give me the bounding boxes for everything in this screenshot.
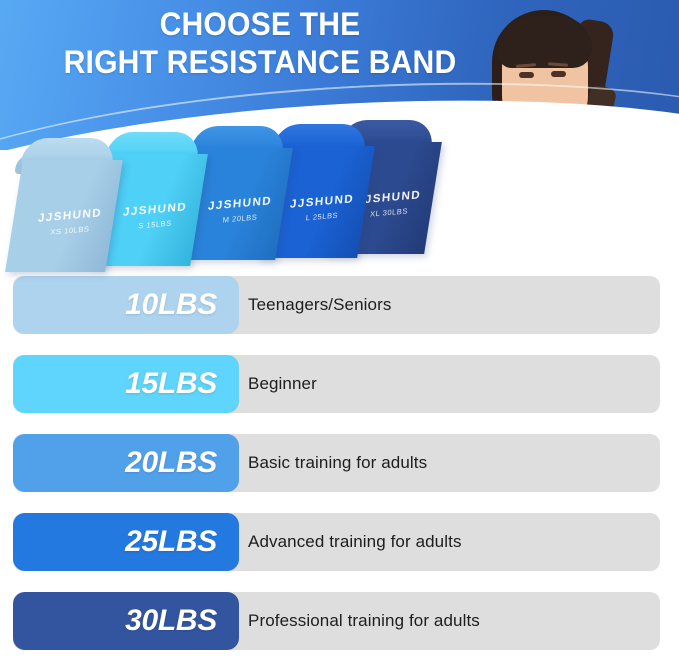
band-lineup: JJSHUND XS 10LBS JJSHUND S 15LBS JJSHUND… <box>0 118 440 268</box>
model-hair-top <box>498 16 592 68</box>
row-description: Professional training for adults <box>248 592 480 650</box>
infographic-page: CHOOSE THE RIGHT RESISTANCE BAND JJSHUND… <box>0 0 679 668</box>
row-description: Basic training for adults <box>248 434 427 492</box>
row-description: Advanced training for adults <box>248 513 462 571</box>
weight-value: 30LBS <box>125 604 217 638</box>
row-description: Beginner <box>248 355 317 413</box>
weight-badge: 15LBS <box>13 355 239 413</box>
table-row: 25LBS Advanced training for adults <box>13 513 660 571</box>
row-description: Teenagers/Seniors <box>248 276 391 334</box>
weight-badge: 25LBS <box>13 513 239 571</box>
weight-value: 10LBS <box>125 288 217 322</box>
weight-value: 15LBS <box>125 367 217 401</box>
weight-badge: 30LBS <box>13 592 239 650</box>
table-row: 20LBS Basic training for adults <box>13 434 660 492</box>
page-title: CHOOSE THE RIGHT RESISTANCE BAND <box>16 6 505 82</box>
page-title-line-1: CHOOSE THE <box>16 6 505 44</box>
weight-value: 20LBS <box>125 446 217 480</box>
model-eye-right <box>551 71 566 77</box>
model-eye-left <box>519 72 534 78</box>
weight-value: 25LBS <box>125 525 217 559</box>
table-row: 30LBS Professional training for adults <box>13 592 660 650</box>
table-row: 15LBS Beginner <box>13 355 660 413</box>
weight-badge: 20LBS <box>13 434 239 492</box>
band-item-xs: JJSHUND XS 10LBS <box>14 136 118 276</box>
table-row: 10LBS Teenagers/Seniors <box>13 276 660 334</box>
weight-badge: 10LBS <box>13 276 239 334</box>
page-title-line-2: RIGHT RESISTANCE BAND <box>16 44 505 82</box>
resistance-level-table: 10LBS Teenagers/Seniors 15LBS Beginner 2… <box>0 276 679 668</box>
